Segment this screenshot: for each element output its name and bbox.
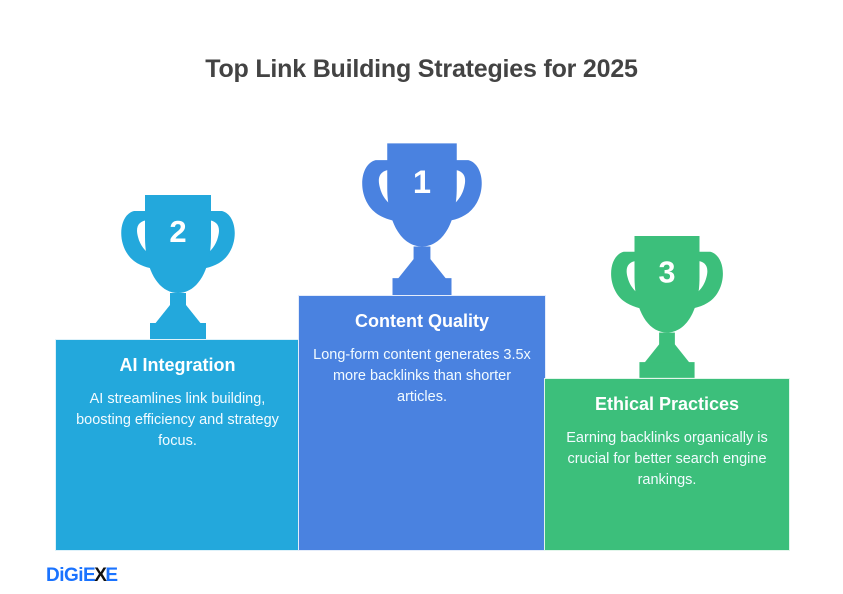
trophy-rank-number-second: 2 — [169, 214, 186, 249]
trophy-icon-first: 1 — [348, 137, 496, 295]
podium-block-second[interactable]: AI Integration AI streamlines link build… — [55, 339, 300, 551]
logo-text-part-one: DiGiE — [46, 565, 95, 586]
logo-text-part-three: E — [105, 565, 117, 586]
podium-description-third: Earning backlinks organically is crucial… — [559, 428, 775, 491]
podium-block-first[interactable]: Content Quality Long-form content genera… — [298, 295, 546, 551]
trophy-rank-number-third: 3 — [659, 255, 676, 289]
podium-heading-second: AI Integration — [120, 354, 236, 377]
podium-description-second: AI streamlines link building, boosting e… — [70, 389, 285, 452]
podium-chart: 2 AI Integration AI streamlines link bui… — [0, 0, 843, 594]
podium-block-third[interactable]: Ethical Practices Earning backlinks orga… — [544, 378, 790, 551]
trophy-icon-second: 2 — [112, 189, 244, 339]
trophy-icon-third: 3 — [602, 230, 732, 378]
podium-description-first: Long-form content generates 3.5x more ba… — [313, 345, 531, 408]
brand-logo[interactable]: DiGiEXE — [46, 566, 118, 585]
trophy-rank-number-first: 1 — [413, 163, 431, 200]
podium-heading-third: Ethical Practices — [595, 393, 739, 416]
infographic-canvas: Top Link Building Strategies for 2025 2 — [0, 0, 843, 594]
podium-heading-first: Content Quality — [355, 310, 489, 333]
